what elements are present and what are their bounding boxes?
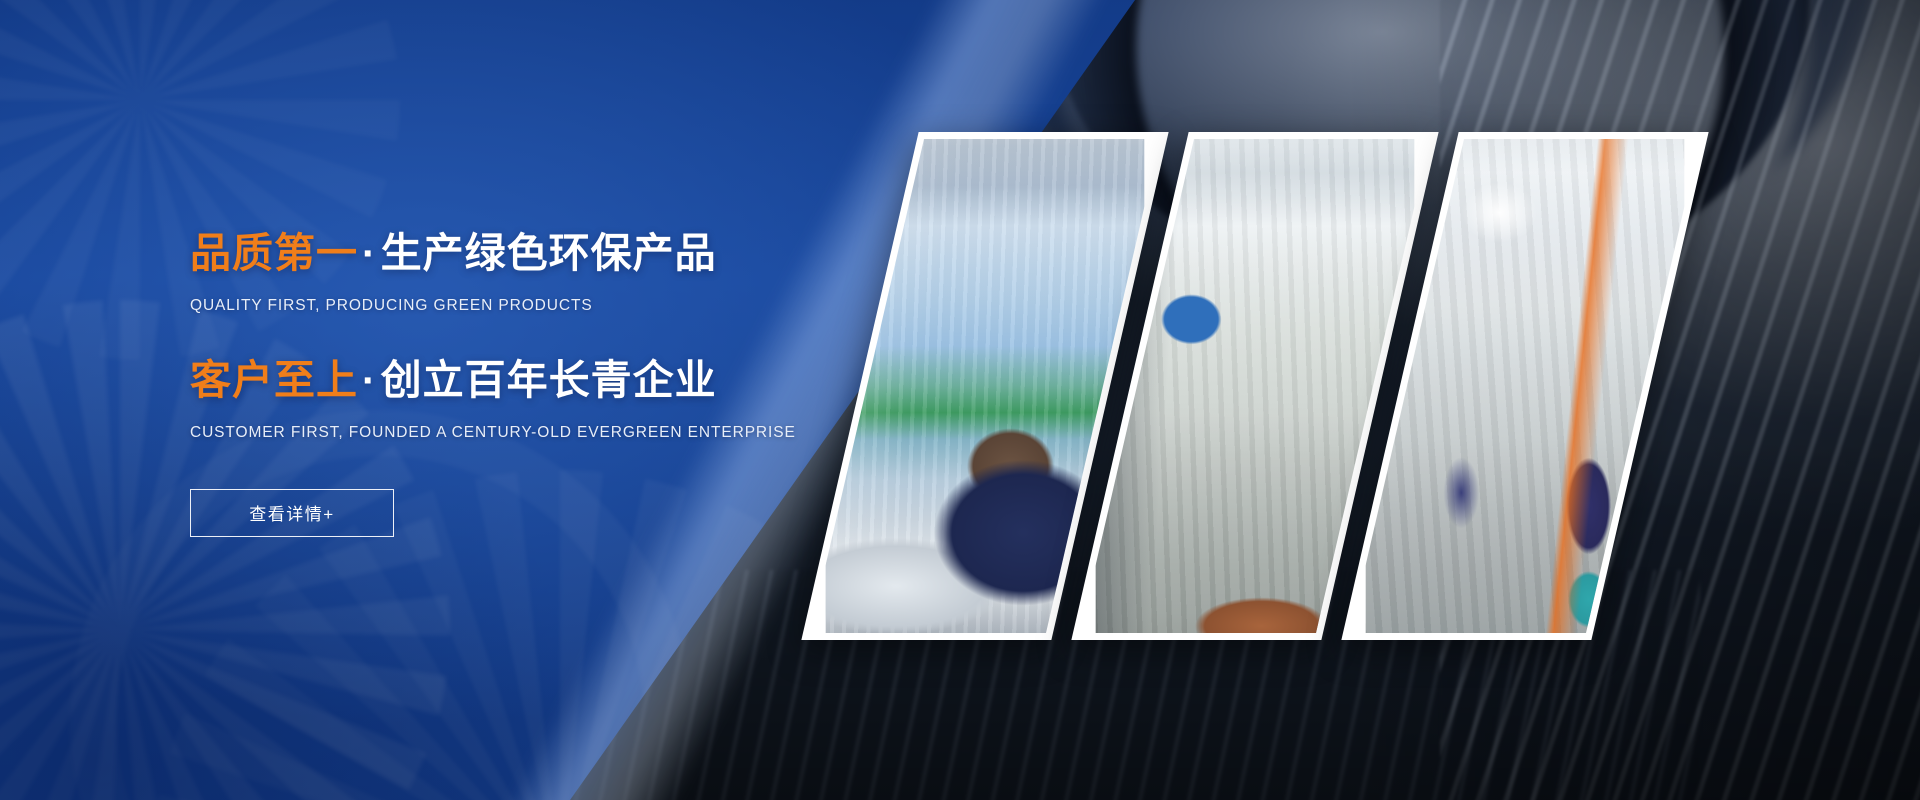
headline-1-accent: 品质第一 xyxy=(190,230,358,276)
hero-banner: 品质第一·生产绿色环保产品 QUALITY FIRST, PRODUCING G… xyxy=(0,0,1920,800)
banner-content: 品质第一·生产绿色环保产品 QUALITY FIRST, PRODUCING G… xyxy=(190,228,910,537)
subtitle-2: CUSTOMER FIRST, FOUNDED A CENTURY-OLD EV… xyxy=(190,424,910,442)
headline-1-rest: 生产绿色环保产品 xyxy=(381,230,717,276)
headline-2: 客户至上·创立百年长青企业 xyxy=(190,355,910,406)
headline-2-accent: 客户至上 xyxy=(190,357,358,403)
subtitle-1: QUALITY FIRST, PRODUCING GREEN PRODUCTS xyxy=(190,297,910,315)
headline-1-separator: · xyxy=(358,230,381,276)
headline-2-rest: 创立百年长青企业 xyxy=(381,357,717,403)
view-details-button[interactable]: 查看详情+ xyxy=(190,489,394,537)
headline-1: 品质第一·生产绿色环保产品 xyxy=(190,228,910,279)
headline-2-separator: · xyxy=(358,357,381,403)
